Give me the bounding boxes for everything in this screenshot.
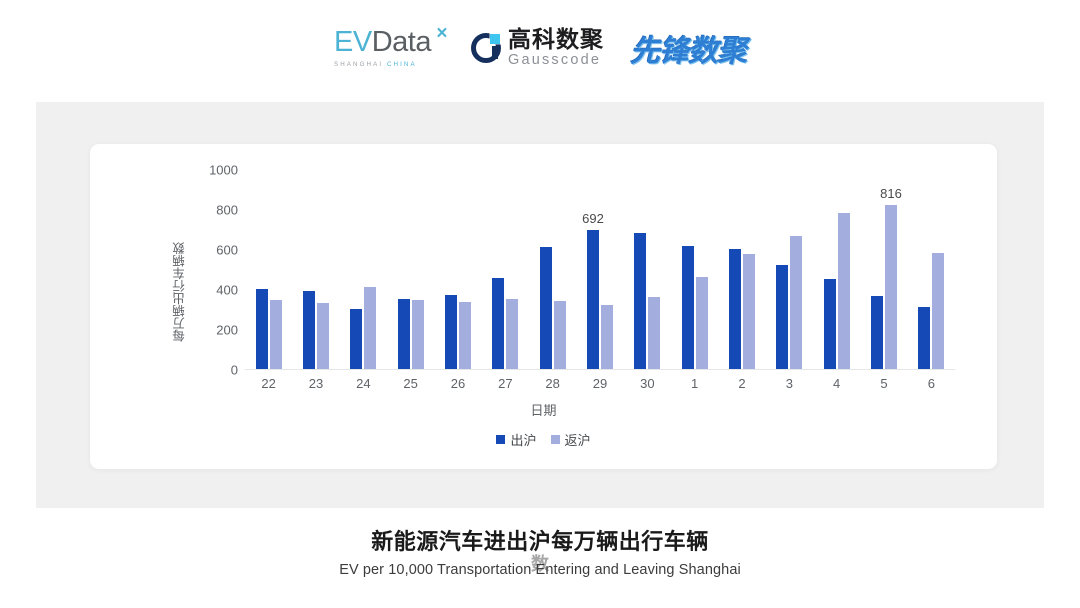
x-axis-baseline: [245, 369, 955, 371]
plot-area: 692816: [245, 170, 955, 370]
bar-group: [434, 169, 481, 369]
bar-返沪-5[interactable]: 816: [885, 205, 897, 368]
caption-subtitle: EV per 10,000 Transportation Entering an…: [0, 562, 1080, 578]
x-axis-tick-label: 4: [833, 376, 840, 391]
gausscode-english-name: Gausscode: [508, 53, 604, 68]
x-axis-tick-label: 26: [451, 376, 465, 391]
y-axis-tick-label: 600: [216, 243, 238, 258]
gausscode-chinese-name: 高科数聚: [508, 28, 604, 51]
gausscode-bar-shape: [492, 46, 498, 59]
bar-返沪-23[interactable]: [317, 303, 329, 368]
x-axis-tick-label: 25: [403, 376, 417, 391]
bar-返沪-30[interactable]: [648, 297, 660, 369]
bar-出沪-29[interactable]: 692: [587, 230, 599, 368]
evdata-data-text: Data: [372, 26, 431, 58]
bar-出沪-27[interactable]: [492, 278, 504, 368]
bar-group: [245, 169, 292, 369]
bar-group: [813, 169, 860, 369]
bar-出沪-6[interactable]: [918, 307, 930, 369]
y-axis-tick-label: 800: [216, 203, 238, 218]
logo-bar: EVData × SHANGHAI CHINA 高科数聚 Gausscode 先…: [0, 0, 1080, 96]
legend-swatch: [496, 435, 505, 444]
bar-出沪-30[interactable]: [634, 233, 646, 369]
bar-出沪-1[interactable]: [682, 246, 694, 369]
bar-出沪-3[interactable]: [776, 265, 788, 369]
y-axis-tick-label: 0: [231, 363, 238, 378]
bar-group: 692: [576, 169, 623, 369]
gausscode-logo: 高科数聚 Gausscode: [471, 28, 604, 68]
legend-item-出沪[interactable]: 出沪: [496, 430, 536, 449]
evdata-tagline-shanghai: SHANGHAI: [334, 61, 383, 68]
bar-出沪-5[interactable]: [871, 296, 883, 369]
x-axis-tick-label: 1: [691, 376, 698, 391]
bar-返沪-6[interactable]: [932, 253, 944, 369]
x-axis-tick-label: 6: [928, 376, 935, 391]
x-axis-ticks: 222324252627282930123456: [245, 376, 955, 394]
bar-group: [387, 169, 434, 369]
y-axis-tick-label: 400: [216, 283, 238, 298]
chart-card: 每万辆出行车辆数 02004006008001000 692816 222324…: [90, 144, 997, 469]
x-axis-tick-label: 24: [356, 376, 370, 391]
bar-group: [340, 169, 387, 369]
evdata-tagline: SHANGHAI CHINA: [334, 61, 417, 68]
bar-group: [718, 169, 765, 369]
y-axis-tick-label: 200: [216, 323, 238, 338]
bar-group: [292, 169, 339, 369]
bar-group: [908, 169, 955, 369]
bar-group: [766, 169, 813, 369]
bar-返沪-1[interactable]: [696, 277, 708, 368]
evdata-logo: EVData × SHANGHAI CHINA: [334, 28, 445, 68]
bar-出沪-23[interactable]: [303, 291, 315, 368]
legend-swatch: [551, 435, 560, 444]
gausscode-mark-icon: [471, 33, 501, 63]
x-axis-tick-label: 30: [640, 376, 654, 391]
bar-出沪-26[interactable]: [445, 295, 457, 369]
y-axis-ticks: 02004006008001000: [194, 170, 238, 370]
x-axis-tick-label: 3: [786, 376, 793, 391]
bar-出沪-24[interactable]: [350, 309, 362, 369]
bar-出沪-28[interactable]: [540, 247, 552, 368]
x-axis-tick-label: 23: [309, 376, 323, 391]
bar-group: [624, 169, 671, 369]
bar-chart: 每万辆出行车辆数 02004006008001000 692816 222324…: [90, 144, 997, 469]
y-axis-tick-label: 1000: [209, 163, 238, 178]
xianfeng-shuju-logo: 先锋数聚: [630, 26, 746, 70]
bar-value-label: 816: [880, 186, 902, 201]
bar-返沪-3[interactable]: [790, 236, 802, 369]
bar-返沪-26[interactable]: [459, 302, 471, 369]
x-axis-tick-label: 5: [880, 376, 887, 391]
legend-item-返沪[interactable]: 返沪: [551, 430, 591, 449]
bar-group: [671, 169, 718, 369]
evdata-wordmark: EVData ×: [334, 28, 431, 57]
bar-返沪-28[interactable]: [554, 301, 566, 369]
bar-出沪-25[interactable]: [398, 299, 410, 369]
bar-返沪-4[interactable]: [838, 213, 850, 369]
legend-label: 出沪: [510, 430, 536, 449]
bar-返沪-27[interactable]: [506, 299, 518, 369]
x-axis-tick-label: 22: [261, 376, 275, 391]
gausscode-text-block: 高科数聚 Gausscode: [508, 28, 604, 68]
bar-group: [482, 169, 529, 369]
bar-出沪-22[interactable]: [256, 289, 268, 369]
caption-block: 新能源汽车进出沪每万辆出行车辆 数 EV per 10,000 Transpor…: [0, 528, 1080, 578]
x-axis-tick-label: 28: [545, 376, 559, 391]
bar-group: 816: [860, 169, 907, 369]
x-axis-tick-label: 2: [738, 376, 745, 391]
bar-value-label: 692: [582, 211, 604, 226]
caption-title: 新能源汽车进出沪每万辆出行车辆: [0, 528, 1080, 556]
evdata-ev-text: EV: [334, 26, 372, 58]
gausscode-square-shape: [490, 34, 500, 44]
evdata-cross-icon: ×: [436, 24, 447, 43]
bar-出沪-4[interactable]: [824, 279, 836, 368]
bar-返沪-24[interactable]: [364, 287, 376, 368]
bar-返沪-29[interactable]: [601, 305, 613, 368]
legend-label: 返沪: [565, 430, 591, 449]
bar-返沪-2[interactable]: [743, 254, 755, 369]
bar-group: [529, 169, 576, 369]
bar-返沪-22[interactable]: [270, 300, 282, 369]
y-axis-title: 每万辆出行车辆数: [174, 242, 192, 342]
x-axis-tick-label: 27: [498, 376, 512, 391]
bar-返沪-25[interactable]: [412, 300, 424, 369]
bar-出沪-2[interactable]: [729, 249, 741, 368]
x-axis-title: 日期: [90, 400, 997, 419]
x-axis-tick-label: 29: [593, 376, 607, 391]
evdata-tagline-china: CHINA: [387, 61, 417, 68]
chart-legend: 出沪返沪: [90, 430, 997, 449]
